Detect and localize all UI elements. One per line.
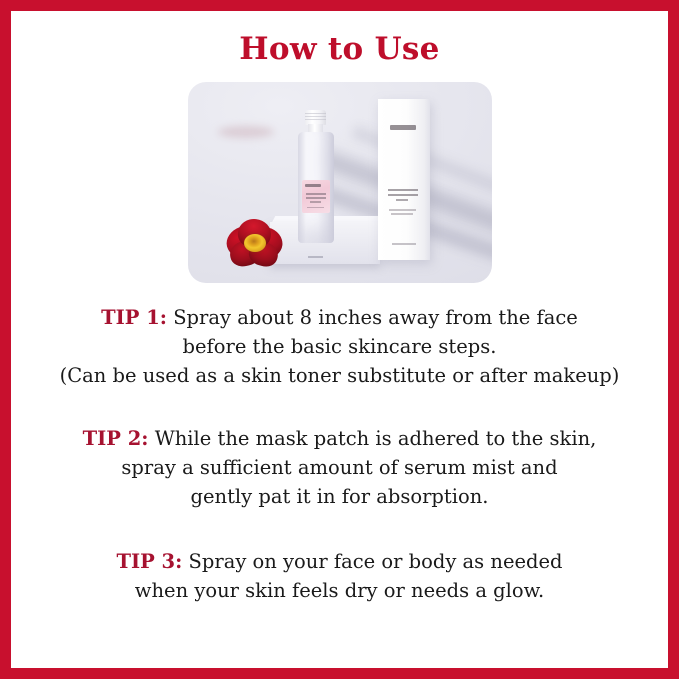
flower-center bbox=[244, 234, 266, 252]
flower-shadow bbox=[218, 126, 274, 138]
box-text-line bbox=[389, 209, 416, 211]
tip-block-3: TIP 3: Spray on your face or body as nee… bbox=[11, 547, 668, 605]
tip-block-1: TIP 1: Spray about 8 inches away from th… bbox=[11, 303, 668, 390]
tip-1-line-3: (Can be used as a skin toner substitute … bbox=[11, 361, 668, 390]
bottle-label-line bbox=[307, 207, 324, 208]
tip-label-2: TIP 2: bbox=[83, 427, 149, 450]
bottle-bottom-text bbox=[308, 256, 323, 258]
box-text-line bbox=[391, 213, 413, 215]
tip-2-line-2: spray a sufficient amount of serum mist … bbox=[11, 453, 668, 482]
bottle-brand-mark bbox=[305, 184, 321, 187]
box-volume-text bbox=[392, 243, 416, 245]
box-text-line bbox=[396, 199, 408, 201]
tip-2-line-3: gently pat it in for absorption. bbox=[11, 482, 668, 511]
tip-1-line-2: before the basic skincare steps. bbox=[11, 332, 668, 361]
tip-label-3: TIP 3: bbox=[116, 550, 182, 573]
product-box bbox=[378, 99, 430, 260]
bottle-label-line bbox=[310, 201, 321, 203]
page-title: How to Use bbox=[11, 31, 668, 67]
tip-block-2: TIP 2: While the mask patch is adhered t… bbox=[11, 424, 668, 511]
bottle-label-line bbox=[306, 193, 326, 195]
product-photo bbox=[188, 82, 492, 283]
box-brand-mark bbox=[390, 125, 416, 130]
tip-label-1: TIP 1: bbox=[101, 306, 167, 329]
box-text-line bbox=[388, 194, 418, 196]
tips-section: TIP 1: Spray about 8 inches away from th… bbox=[11, 303, 668, 605]
how-to-use-card: How to Use bbox=[0, 0, 679, 679]
tip-1-line-1: Spray about 8 inches away from the face bbox=[173, 306, 578, 329]
bottle-pump-cap bbox=[305, 110, 326, 125]
camellia-flower bbox=[224, 217, 286, 269]
bottle-label bbox=[302, 180, 330, 213]
bottle-label-line bbox=[306, 197, 326, 199]
tip-3-line-1: Spray on your face or body as needed bbox=[189, 550, 563, 573]
card-inner: How to Use bbox=[11, 11, 668, 668]
bottle-body bbox=[298, 132, 334, 243]
box-text-line bbox=[388, 189, 418, 191]
tip-2-line-1: While the mask patch is adhered to the s… bbox=[155, 427, 597, 450]
tip-3-line-2: when your skin feels dry or needs a glow… bbox=[11, 576, 668, 605]
product-bottle bbox=[298, 110, 334, 243]
